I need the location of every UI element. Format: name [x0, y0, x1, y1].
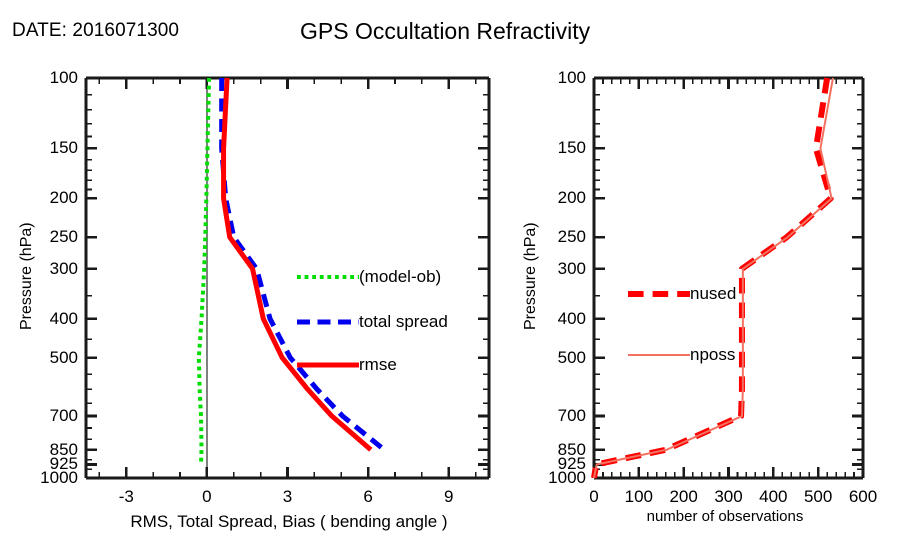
x-tick-label: 6 [363, 487, 372, 507]
legend-label: rmse [359, 355, 397, 375]
y-tick-label: 200 [8, 188, 78, 208]
y-tick-label: 400 [516, 309, 586, 329]
x-tick-label: 200 [669, 487, 697, 507]
legend-swatch [628, 346, 690, 364]
y-tick-label: 300 [8, 259, 78, 279]
legend-label: nposs [690, 345, 735, 365]
x-tick-label: 3 [283, 487, 292, 507]
y-tick-label: 1000 [8, 468, 78, 488]
x-tick-label: 500 [804, 487, 832, 507]
legend-swatch [297, 313, 359, 331]
y-tick-label: 100 [516, 68, 586, 88]
left-panel: Pressure (hPa) 1001502002503004005007008… [0, 0, 500, 560]
y-tick-label: 300 [516, 259, 586, 279]
series-line [594, 78, 831, 478]
x-tick-label: 9 [444, 487, 453, 507]
y-tick-label: 500 [516, 348, 586, 368]
y-tick-label: 150 [8, 138, 78, 158]
legend-label: (model-ob) [359, 267, 441, 287]
y-tick-label: 250 [8, 227, 78, 247]
y-tick-label: 100 [8, 68, 78, 88]
y-tick-label: 400 [8, 309, 78, 329]
legend-label: nused [690, 284, 736, 304]
series-line [224, 78, 371, 450]
x-tick-label: 0 [202, 487, 211, 507]
legend-swatch [628, 285, 690, 303]
right-panel-x-axis-title: number of observations [560, 508, 890, 525]
x-tick-label: 300 [714, 487, 742, 507]
x-tick-label: 400 [759, 487, 787, 507]
y-tick-label: 200 [516, 188, 586, 208]
x-tick-label: 100 [625, 487, 653, 507]
y-tick-label: 700 [516, 406, 586, 426]
series-line [594, 78, 833, 478]
y-tick-label: 500 [8, 348, 78, 368]
y-tick-label: 1000 [516, 468, 586, 488]
plot-page: DATE: 2016071300 GPS Occultation Refract… [0, 0, 900, 560]
x-tick-label: 0 [589, 487, 598, 507]
x-tick-label: 600 [849, 487, 877, 507]
y-tick-label: 150 [516, 138, 586, 158]
legend-swatch [297, 268, 359, 286]
x-tick-label: -3 [119, 487, 134, 507]
legend-label: total spread [359, 312, 448, 332]
y-tick-label: 700 [8, 406, 78, 426]
right-panel: Pressure (hPa) 1001502002503004005007008… [500, 0, 900, 560]
y-tick-label: 250 [516, 227, 586, 247]
left-panel-x-axis-title: RMS, Total Spread, Bias ( bending angle … [87, 512, 491, 532]
legend-swatch [297, 356, 359, 374]
